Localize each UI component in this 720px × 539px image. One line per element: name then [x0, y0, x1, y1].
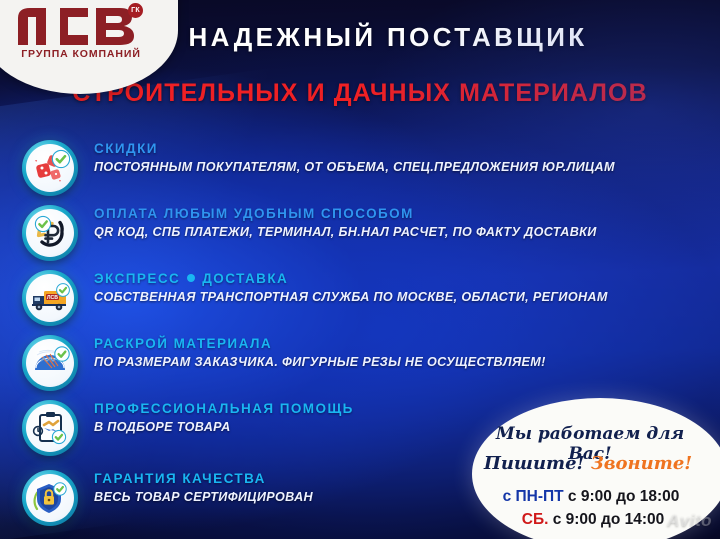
logo-mark-icon: ГК	[16, 4, 144, 46]
feature-row-delivery: ЛСВ ЭКСПРЕССДОСТАВКА	[0, 266, 720, 331]
delivery-truck-icon: ЛСВ	[22, 270, 78, 326]
bullet-dot-icon	[187, 274, 195, 282]
svg-text:ЛСВ: ЛСВ	[47, 295, 58, 301]
cta-write: Пишите!	[484, 453, 585, 474]
material-cutting-icon	[22, 335, 78, 391]
hours-cta: Пишите! Звоните!	[472, 453, 704, 474]
clipboard-handshake-icon	[22, 400, 78, 456]
feature-subtitle: ПО РАЗМЕРАМ ЗАКАЗЧИКА. ФИГУРНЫЕ РЕЗЫ НЕ …	[94, 355, 708, 369]
logo-gk-badge: ГК	[128, 3, 143, 18]
feature-subtitle: ПОСТОЯННЫМ ПОКУПАТЕЛЯМ, ОТ ОБЪЕМА, СПЕЦ.…	[94, 160, 708, 174]
logo-subtitle: ГРУППА КОМПАНИЙ	[16, 48, 146, 60]
feature-row-payment: ОПЛАТА ЛЮБЫМ УДОБНЫМ СПОСОБОМ QR КОД, СП…	[0, 201, 720, 266]
avito-watermark: Avito	[667, 511, 712, 531]
ruble-payment-icon	[22, 205, 78, 261]
feature-title: РАСКРОЙ МАТЕРИАЛА	[94, 336, 708, 351]
feature-row-cutting: РАСКРОЙ МАТЕРИАЛА ПО РАЗМЕРАМ ЗАКАЗЧИКА.…	[0, 331, 720, 396]
hours-weekday: с ПН-ПТ с 9:00 до 18:00	[472, 488, 710, 506]
cta-call: Звоните!	[591, 453, 692, 474]
hours-saturday-label: СБ.	[522, 511, 549, 528]
hours-weekday-time: с 9:00 до 18:00	[568, 488, 680, 505]
feature-row-discounts: СКИДКИ ПОСТОЯННЫМ ПОКУПАТЕЛЯМ, ОТ ОБЪЕМА…	[0, 136, 720, 201]
feature-title: ОПЛАТА ЛЮБЫМ УДОБНЫМ СПОСОБОМ	[94, 206, 708, 221]
feature-title-part-b: ДОСТАВКА	[202, 271, 288, 286]
feature-subtitle: QR КОД, СПБ ПЛАТЕЖИ, ТЕРМИНАЛ, БН.НАЛ РА…	[94, 225, 708, 239]
shield-lock-icon	[22, 470, 78, 526]
hours-weekday-label: с ПН-ПТ	[503, 488, 564, 505]
promo-banner: ГК ГРУППА КОМПАНИЙ НАДЕЖНЫЙ ПОСТАВЩИК СТ…	[0, 0, 720, 539]
feature-subtitle: СОБСТВЕННАЯ ТРАНСПОРТНАЯ СЛУЖБА ПО МОСКВ…	[94, 290, 708, 304]
hours-saturday-time: с 9:00 до 14:00	[553, 511, 665, 528]
feature-title: СКИДКИ	[94, 141, 708, 156]
discount-dice-icon	[22, 140, 78, 196]
feature-title: ЭКСПРЕССДОСТАВКА	[94, 271, 708, 286]
feature-title-part-a: ЭКСПРЕСС	[94, 271, 180, 286]
